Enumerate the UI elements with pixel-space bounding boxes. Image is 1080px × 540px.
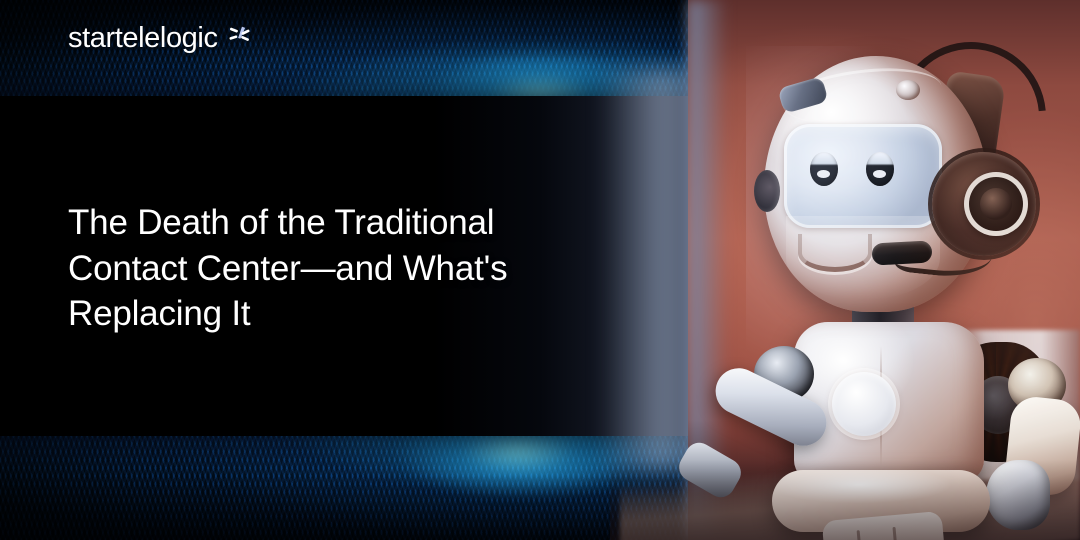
banner-root: startelelogic The Death of the Tradition… <box>0 0 1080 540</box>
headset-earcup-core <box>980 188 1012 220</box>
asterisk-star-icon <box>225 20 253 48</box>
headset-microphone-icon <box>871 240 932 265</box>
brand-logo-text: startelelogic <box>68 24 218 53</box>
robot-smile <box>798 234 872 272</box>
robot-head-sensor <box>896 80 920 100</box>
robot-eye-right <box>866 152 894 186</box>
robot-chest-plate <box>832 372 896 436</box>
robot-eye-left <box>810 152 838 186</box>
robot-ear-left <box>754 170 780 212</box>
robot-elbow-joint <box>986 460 1050 530</box>
robot-face-visor <box>784 124 942 228</box>
page-title: The Death of the Traditional Contact Cen… <box>68 200 538 337</box>
brand-logo[interactable]: startelelogic <box>68 24 253 53</box>
ai-customer-service-robot <box>746 46 1080 540</box>
